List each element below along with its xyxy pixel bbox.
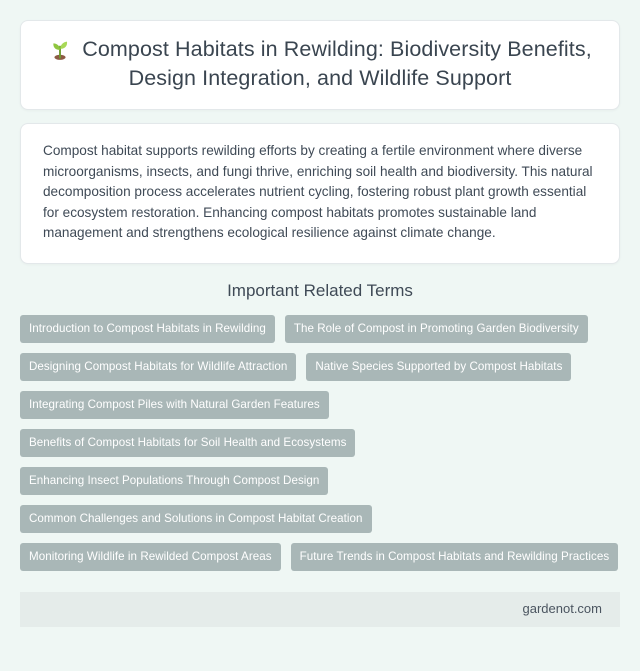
- related-terms-list: Introduction to Compost Habitats in Rewi…: [20, 315, 620, 571]
- related-term-tag[interactable]: Designing Compost Habitats for Wildlife …: [20, 353, 296, 381]
- related-term-tag[interactable]: Common Challenges and Solutions in Compo…: [20, 505, 372, 533]
- footer-site-name: gardenot.com: [523, 601, 603, 617]
- related-term-tag[interactable]: The Role of Compost in Promoting Garden …: [285, 315, 588, 343]
- related-term-tag[interactable]: Integrating Compost Piles with Natural G…: [20, 391, 329, 419]
- related-term-tag[interactable]: Introduction to Compost Habitats in Rewi…: [20, 315, 275, 343]
- page-title: Compost Habitats in Rewilding: Biodivers…: [45, 35, 595, 93]
- related-term-tag[interactable]: Benefits of Compost Habitats for Soil He…: [20, 429, 355, 457]
- related-term-tag[interactable]: Monitoring Wildlife in Rewilded Compost …: [20, 543, 281, 571]
- title-card: Compost Habitats in Rewilding: Biodivers…: [20, 20, 620, 110]
- description-text: Compost habitat supports rewilding effor…: [43, 141, 597, 244]
- page-title-line1: Compost Habitats in Rewilding: Biodivers…: [82, 37, 501, 61]
- related-terms-heading: Important Related Terms: [20, 280, 620, 302]
- related-term-tag[interactable]: Native Species Supported by Compost Habi…: [306, 353, 571, 381]
- related-term-tag[interactable]: Future Trends in Compost Habitats and Re…: [291, 543, 619, 571]
- description-card: Compost habitat supports rewilding effor…: [20, 123, 620, 264]
- seedling-icon: [48, 37, 72, 61]
- footer-bar: gardenot.com: [20, 592, 620, 627]
- related-term-tag[interactable]: Enhancing Insect Populations Through Com…: [20, 467, 328, 495]
- page-root: Compost Habitats in Rewilding: Biodivers…: [0, 0, 640, 671]
